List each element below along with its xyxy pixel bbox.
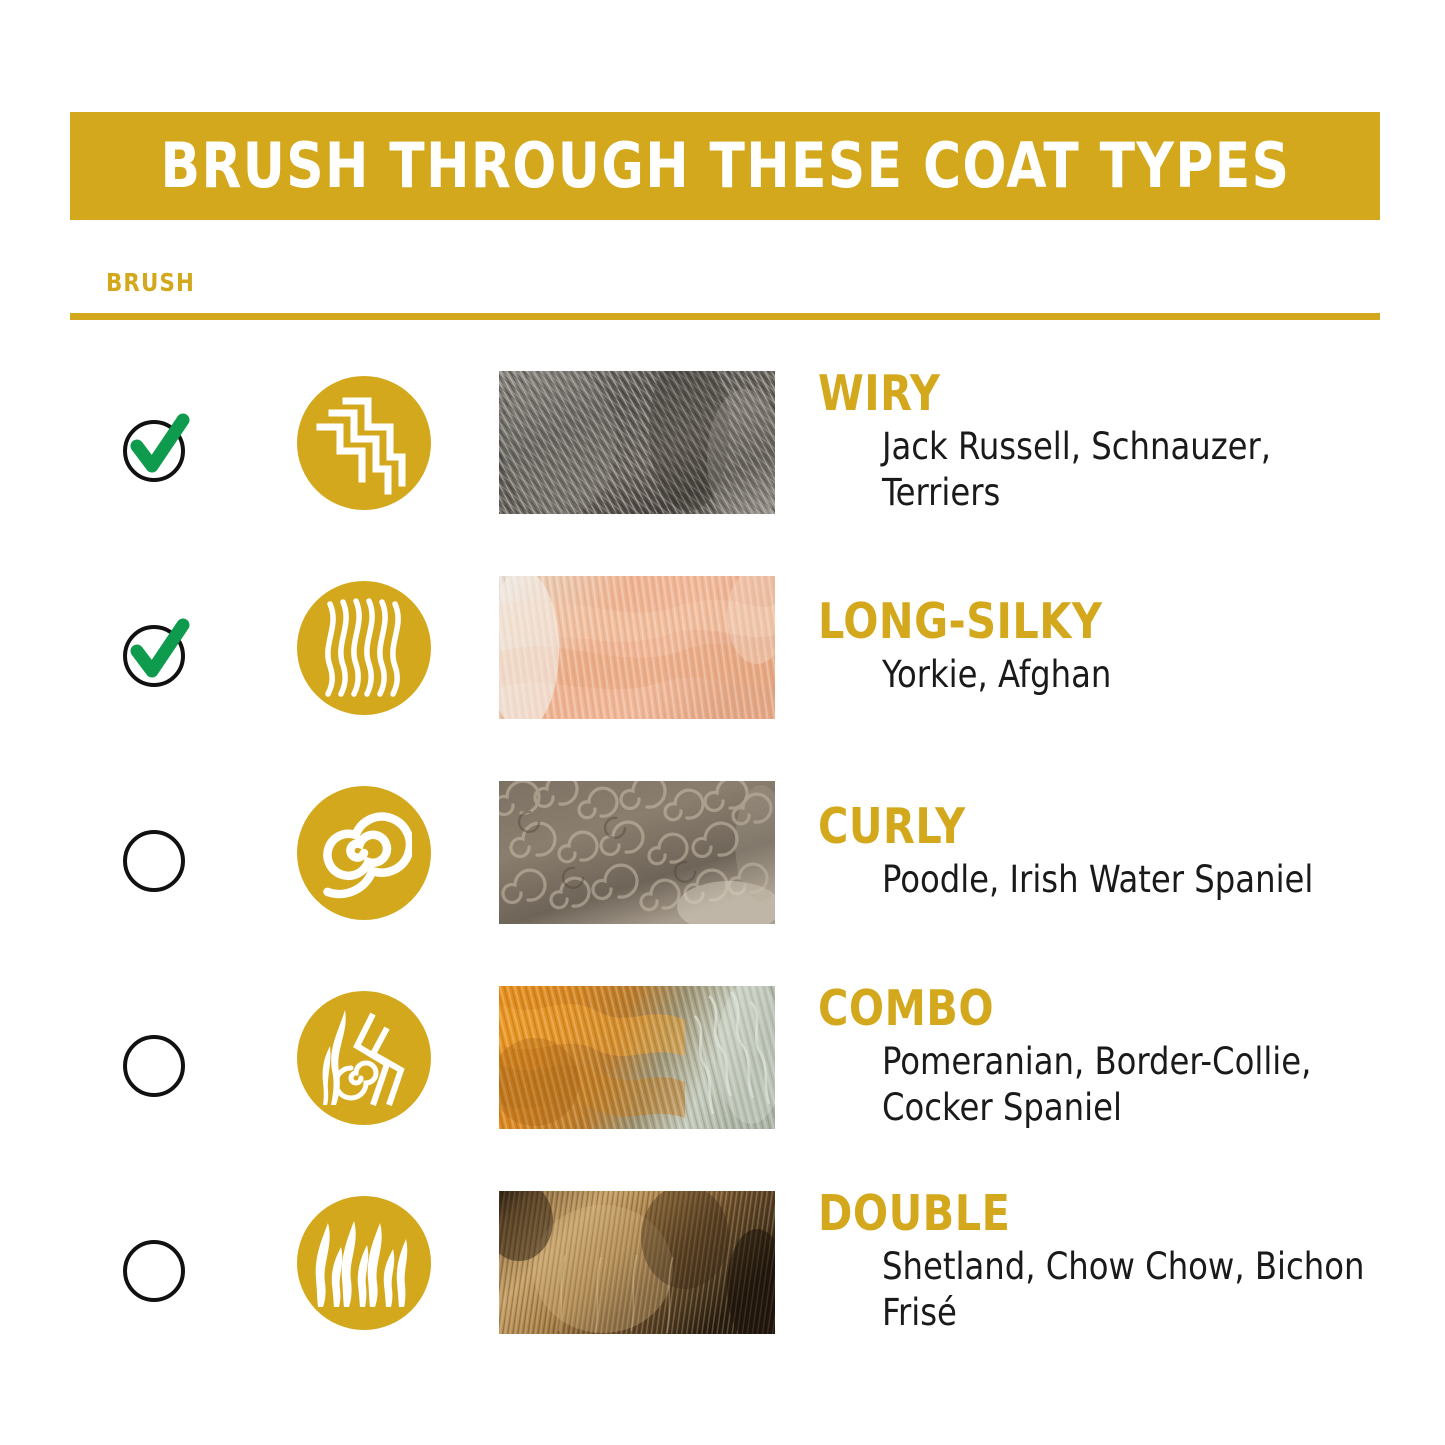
coat-text-cell: LONG-SILKY Yorkie, Afghan [818,545,1408,750]
checkbox-double[interactable] [121,1226,195,1300]
coat-breeds: Yorkie, Afghan [882,652,1392,698]
combo-mixed-icon [315,1006,413,1110]
coat-icon-circle [297,376,431,510]
checkmark-icon [121,406,195,480]
section-label-brush: BRUSH [106,268,195,297]
coat-photo-cell [499,750,775,955]
coat-icon-circle [297,991,431,1125]
checkbox-cell[interactable] [118,545,198,750]
coat-text-cell: COMBO Pomeranian, Border-Collie, Cocker … [818,955,1408,1160]
curly-fur-photo [499,781,775,924]
coat-photo-cell [499,545,775,750]
checkbox-cell[interactable] [118,1160,198,1365]
wiry-fur-photo [499,371,775,514]
coat-title: LONG-SILKY [818,597,1373,648]
coat-photo-cell [499,955,775,1160]
coat-photo-cell [499,1160,775,1365]
coat-type-list: WIRY Jack Russell, Schnauzer, Terriers [0,340,1445,1365]
coat-title: CURLY [818,802,1373,853]
coat-icon-circle [297,1196,431,1330]
coat-text-cell: DOUBLE Shetland, Chow Chow, Bichon Frisé [818,1160,1408,1365]
coat-text-cell: CURLY Poodle, Irish Water Spaniel [818,750,1408,955]
curly-spiral-icon [316,805,412,901]
coat-icon-cell [288,955,440,1160]
long-silky-fur-photo [499,576,775,719]
checkbox-wiry[interactable] [121,406,195,480]
coat-photo-cell [499,340,775,545]
checkbox-circle [123,1240,185,1302]
coat-type-row: COMBO Pomeranian, Border-Collie, Cocker … [0,955,1445,1160]
checkbox-long-silky[interactable] [121,611,195,685]
coat-title: DOUBLE [818,1189,1373,1240]
coat-type-row: DOUBLE Shetland, Chow Chow, Bichon Frisé [0,1160,1445,1365]
checkbox-cell[interactable] [118,750,198,955]
coat-breeds: Shetland, Chow Chow, Bichon Frisé [882,1244,1392,1336]
coat-breeds: Poodle, Irish Water Spaniel [882,857,1392,903]
coat-title: COMBO [818,984,1373,1035]
checkbox-combo[interactable] [121,1021,195,1095]
coat-breeds: Jack Russell, Schnauzer, Terriers [882,424,1392,516]
coat-icon-cell [288,340,440,545]
coat-text-cell: WIRY Jack Russell, Schnauzer, Terriers [818,340,1408,545]
coat-icon-circle [297,581,431,715]
coat-breeds: Pomeranian, Border-Collie, Cocker Spanie… [882,1039,1392,1131]
checkbox-cell[interactable] [118,955,198,1160]
checkbox-circle [123,1035,185,1097]
section-divider [70,313,1380,320]
coat-icon-circle [297,786,431,920]
checkbox-circle [123,830,185,892]
long-silky-strands-icon [318,598,410,698]
coat-icon-cell [288,545,440,750]
checkmark-icon [121,611,195,685]
combo-fur-photo [499,986,775,1129]
coat-title: WIRY [818,369,1373,420]
checkbox-cell[interactable] [118,340,198,545]
checkbox-curly[interactable] [121,816,195,890]
header-banner: BRUSH THROUGH THESE COAT TYPES [70,112,1380,220]
coat-type-row: CURLY Poodle, Irish Water Spaniel [0,750,1445,955]
double-fur-photo [499,1191,775,1334]
wiry-zigzag-icon [316,391,412,495]
double-coat-strands-icon [314,1215,414,1311]
coat-icon-cell [288,1160,440,1365]
infographic-page: BRUSH THROUGH THESE COAT TYPES BRUSH [0,0,1445,1445]
coat-type-row: LONG-SILKY Yorkie, Afghan [0,545,1445,750]
coat-icon-cell [288,750,440,955]
banner-title: BRUSH THROUGH THESE COAT TYPES [160,135,1290,197]
coat-type-row: WIRY Jack Russell, Schnauzer, Terriers [0,340,1445,545]
